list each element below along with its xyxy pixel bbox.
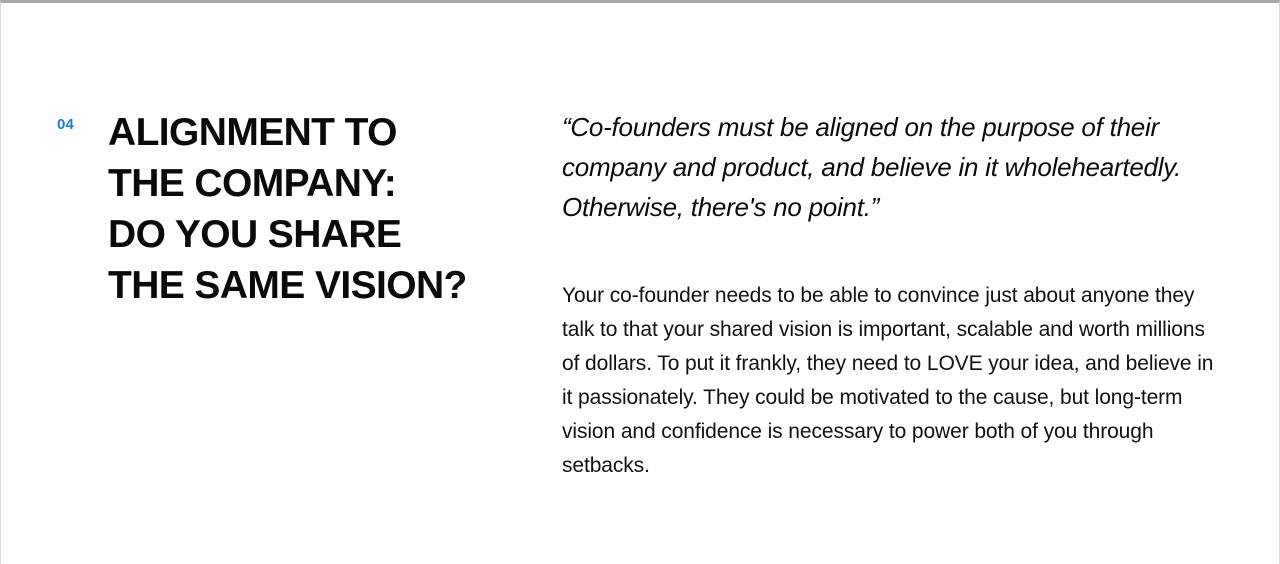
pull-quote: “Co-founders must be aligned on the purp… (562, 107, 1222, 227)
heading-line-3: DO YOU SHARE (108, 209, 518, 260)
heading-line-2: THE COMPANY: (108, 158, 518, 209)
content-column: “Co-founders must be aligned on the purp… (562, 107, 1222, 483)
heading-line-1: ALIGNMENT TO (108, 107, 518, 158)
page-title: ALIGNMENT TO THE COMPANY: DO YOU SHARE T… (108, 107, 518, 311)
body-paragraph: Your co-founder needs to be able to conv… (562, 279, 1222, 483)
section-number: 04 (57, 117, 74, 132)
slide-canvas: 04 ALIGNMENT TO THE COMPANY: DO YOU SHAR… (0, 0, 1280, 564)
heading-line-4: THE SAME VISION? (108, 260, 518, 311)
